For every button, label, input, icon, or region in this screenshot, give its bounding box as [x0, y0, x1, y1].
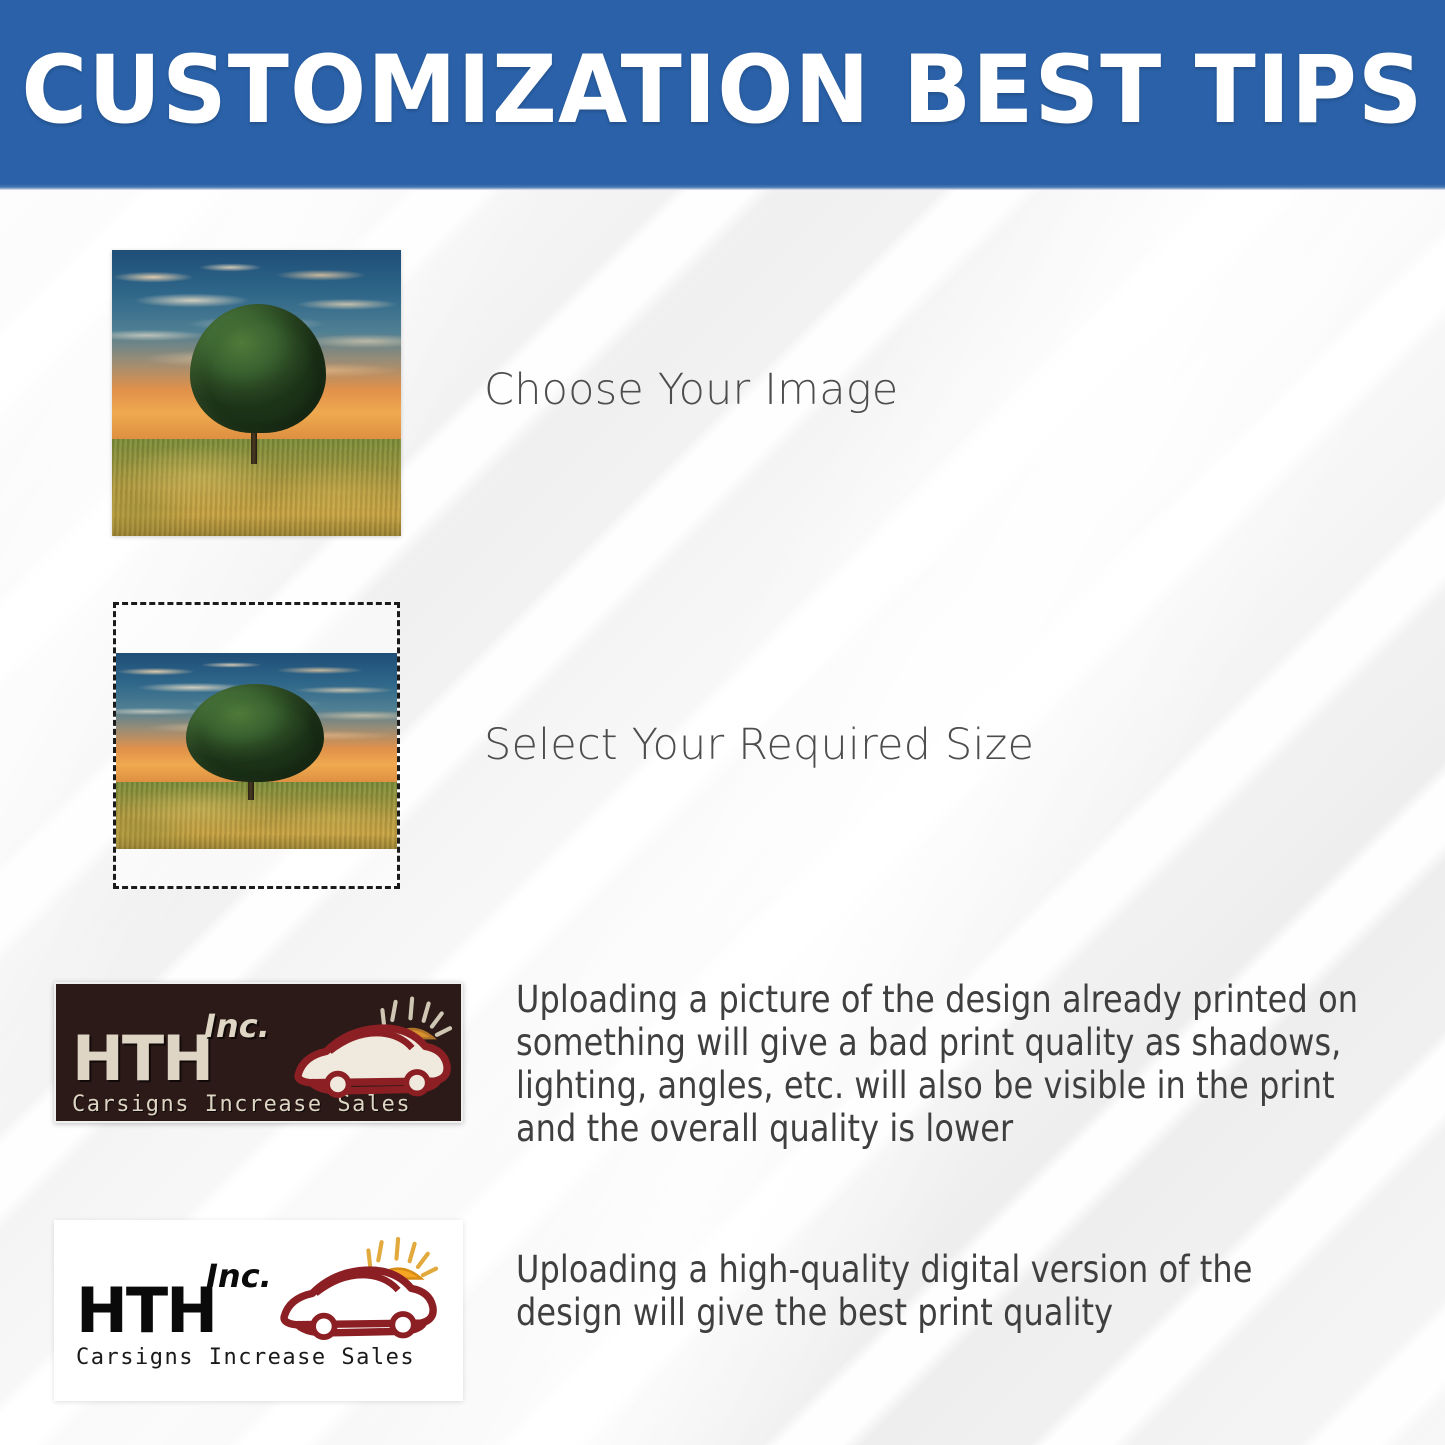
infographic-page: CUSTOMIZATION BEST TIPS Choose Your Imag… — [0, 0, 1445, 1445]
logo-content: HTH Inc. Carsigns Increase Sales — [56, 984, 461, 1121]
sunset-tree-photo-square — [112, 250, 401, 536]
hth-logo-photographed-dark: HTH Inc. Carsigns Increase Sales — [54, 982, 463, 1123]
page-title: CUSTOMIZATION BEST TIPS — [0, 26, 1445, 156]
logo-inc-suffix: Inc. — [206, 1260, 272, 1292]
photo-tree-canopy — [190, 304, 326, 433]
car-with-sunburst-icon — [276, 1234, 441, 1356]
hth-logo-digital-white: HTH Inc. Carsigns Increase Sales — [54, 1220, 463, 1401]
logo-hth-wordmark: HTH — [72, 1028, 212, 1090]
logo-inc-suffix: Inc. — [204, 1010, 270, 1042]
header-banner-underline — [0, 184, 1445, 190]
logo-hth-wordmark: HTH — [76, 1280, 216, 1342]
paragraph-bad-upload: Uploading a picture of the design alread… — [516, 978, 1390, 1150]
label-select-your-required-size: Select Your Required Size — [484, 720, 1034, 770]
sunset-tree-photo-wide — [116, 653, 397, 849]
logo-content: HTH Inc. Carsigns Increase Sales — [54, 1220, 463, 1401]
label-choose-your-image: Choose Your Image — [484, 365, 898, 415]
paragraph-good-upload: Uploading a high-quality digital version… — [516, 1248, 1361, 1334]
photo-tree-canopy — [186, 684, 324, 782]
crop-size-dashed-frame[interactable] — [113, 602, 400, 889]
car-with-sunburst-icon — [290, 994, 455, 1112]
photo-field-light — [116, 782, 397, 849]
